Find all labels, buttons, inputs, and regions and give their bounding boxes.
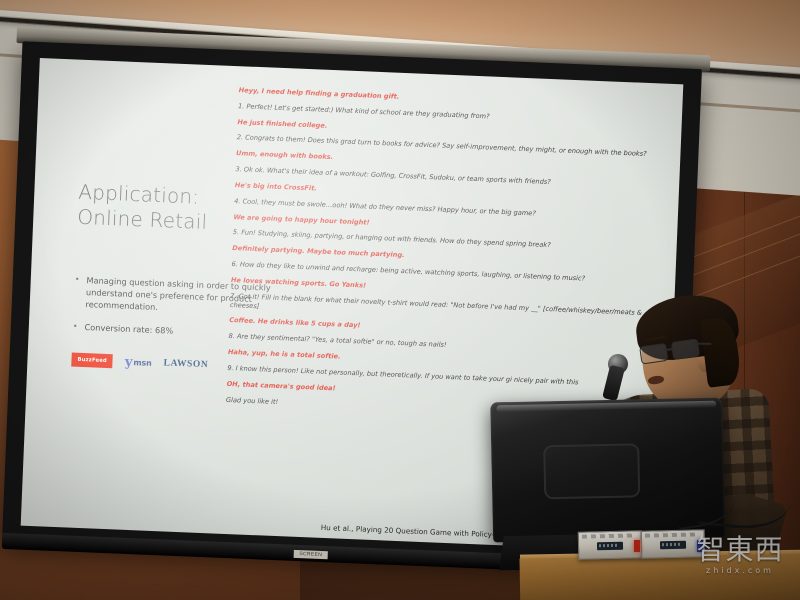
watermark-chinese-text: 智東西 (686, 536, 794, 564)
buzzfeed-logo: BuzzFeed (71, 353, 113, 369)
slide-citation: Hu et al., Playing 20 Question Game with… (321, 523, 512, 540)
bullet-marker-icon: • (74, 273, 80, 310)
watermark-domain-text: zhidx.com (686, 566, 794, 575)
msn-logo: y msn (125, 355, 152, 369)
receiver-led-red-icon (634, 540, 640, 552)
monitor-vesa-mount (543, 443, 640, 499)
microphone-body (602, 365, 625, 402)
msn-butterfly-icon: y (125, 355, 133, 368)
photo-scene: Application: Online Retail • Managing qu… (0, 0, 800, 600)
screen-brand-label: SCREEN (294, 550, 328, 559)
wireless-receiver-box (578, 530, 643, 560)
msn-logo-text: msn (133, 358, 152, 368)
bullet-marker-icon: • (73, 321, 78, 333)
slide-bullet-text: Conversion rate: 68% (84, 321, 173, 337)
site-watermark: 智東西 zhidx.com (686, 536, 794, 575)
lawson-logo: LAWSON (163, 358, 208, 370)
